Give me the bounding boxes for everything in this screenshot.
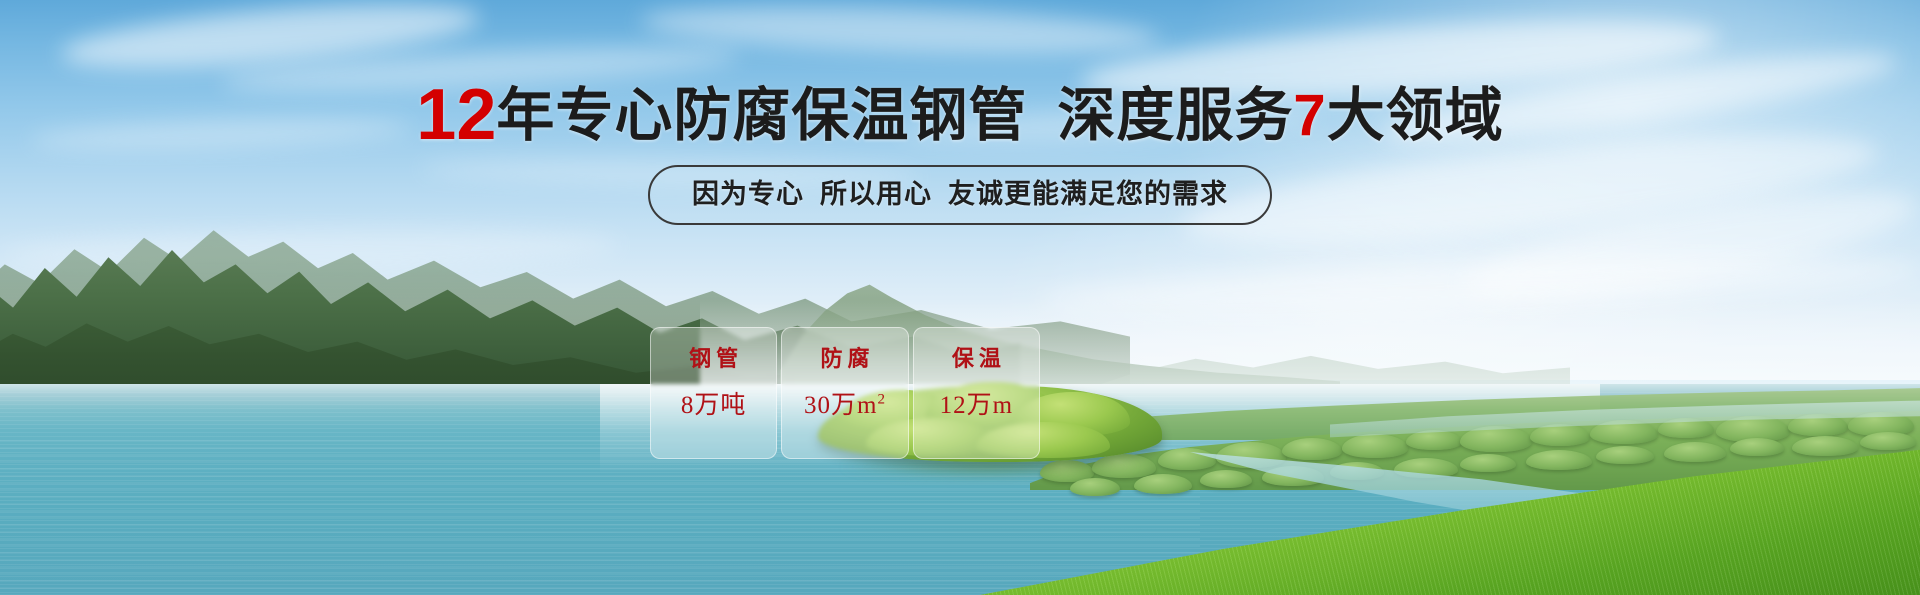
stat-card-value-text: 12万m xyxy=(940,392,1013,419)
stat-card-label: 防腐 xyxy=(815,346,874,372)
marsh-clump xyxy=(1664,442,1726,462)
stat-card-group: 钢管 8万吨 防腐 30万m2 保温 12万m xyxy=(650,327,1040,459)
marsh-clump xyxy=(1200,470,1252,488)
stat-card-value: 30万m2 xyxy=(804,391,886,421)
headline-fields-number: 7 xyxy=(1293,83,1326,148)
subtitle-part-3: 友诚更能满足您的需求 xyxy=(948,179,1228,209)
subtitle-pill: 因为专心所以用心友诚更能满足您的需求 xyxy=(648,165,1272,225)
stat-card-value-text: 8万吨 xyxy=(681,392,747,419)
stat-card-value: 8万吨 xyxy=(681,391,747,421)
marsh-clump xyxy=(1282,438,1342,460)
subtitle-wrapper: 因为专心所以用心友诚更能满足您的需求 xyxy=(0,165,1920,225)
marsh-clump xyxy=(1860,432,1916,450)
subtitle-part-2: 所以用心 xyxy=(820,179,932,209)
marsh-clump xyxy=(1460,454,1516,472)
headline-years-number: 12 xyxy=(416,75,496,155)
stat-card-label: 钢管 xyxy=(684,346,743,372)
stat-card-value-text: 30万m xyxy=(804,392,877,419)
marsh-clump xyxy=(1134,474,1192,494)
headline: 12年专心防腐保温钢管深度服务7大领域 xyxy=(0,83,1920,148)
stat-card-anticorrosion[interactable]: 防腐 30万m2 xyxy=(781,327,908,459)
stat-card-value: 12万m xyxy=(940,391,1013,421)
headline-years-unit: 年 xyxy=(496,83,555,148)
marsh-clump xyxy=(1730,438,1784,456)
marsh-clump xyxy=(1792,436,1858,456)
stat-card-steel-pipe[interactable]: 钢管 8万吨 xyxy=(650,327,777,459)
marsh-clump xyxy=(1596,446,1654,464)
marsh-clump xyxy=(1070,478,1120,496)
promo-banner: 12年专心防腐保温钢管深度服务7大领域 因为专心所以用心友诚更能满足您的需求 钢… xyxy=(0,0,1920,595)
stat-card-value-superscript: 2 xyxy=(877,392,886,408)
subtitle-part-1: 因为专心 xyxy=(692,179,804,209)
marsh-clump xyxy=(1342,434,1408,458)
stat-card-insulation[interactable]: 保温 12万m xyxy=(913,327,1040,459)
stat-card-label: 保温 xyxy=(947,346,1006,372)
headline-service-text: 深度服务 xyxy=(1057,83,1293,148)
headline-fields-text: 大领域 xyxy=(1327,83,1504,148)
marsh-clump xyxy=(1526,450,1592,470)
headline-main-text: 专心防腐保温钢管 xyxy=(555,83,1027,148)
